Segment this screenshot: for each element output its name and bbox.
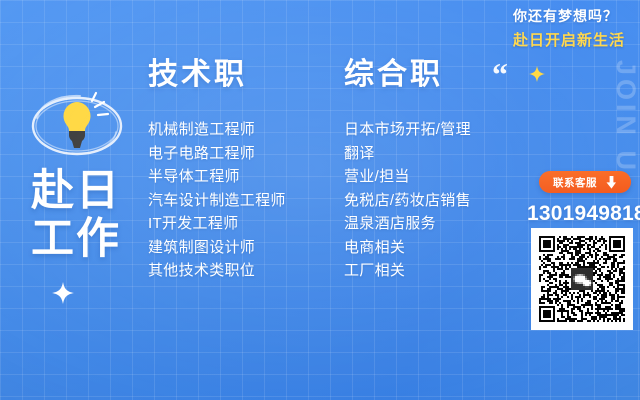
list-item: 机械制造工程师 xyxy=(148,118,286,142)
list-item: 免税店/药妆店销售 xyxy=(344,189,471,213)
qr-code[interactable] xyxy=(531,228,633,330)
list-item: 电子电路工程师 xyxy=(148,142,286,166)
column-technical-list: 机械制造工程师 电子电路工程师 半导体工程师 汽车设计制造工程师 IT开发工程师… xyxy=(148,118,286,283)
slogan-question: 你还有梦想吗？ xyxy=(513,8,618,24)
list-item: 营业/担当 xyxy=(344,165,471,189)
contact-support-button[interactable]: 联系客服 xyxy=(539,171,631,193)
sparkle-star-yellow-icon xyxy=(529,66,545,82)
list-item: IT开发工程师 xyxy=(148,212,286,236)
list-item: 半导体工程师 xyxy=(148,165,286,189)
contact-support-label: 联系客服 xyxy=(553,175,597,190)
column-technical: 技术职 机械制造工程师 电子电路工程师 半导体工程师 汽车设计制造工程师 IT开… xyxy=(148,58,286,283)
column-general: 综合职 日本市场开拓/管理 翻译 营业/担当 免税店/药妆店销售 温泉酒店服务 … xyxy=(344,58,471,283)
column-general-list: 日本市场开拓/管理 翻译 营业/担当 免税店/药妆店销售 温泉酒店服务 电商相关… xyxy=(344,118,471,283)
vertical-join-us-text: JOIN U xyxy=(610,60,640,174)
lightbulb-icon xyxy=(24,82,130,166)
brand-title-line2: 工作 xyxy=(31,215,151,263)
slogan-highlight: 赴日开启新生活 xyxy=(513,32,625,49)
list-item: 温泉酒店服务 xyxy=(344,212,471,236)
poster-canvas: 赴日 工作 “ 你还有梦想吗？ 赴日开启新生活 JOIN U 技术职 机械制造工… xyxy=(0,0,640,400)
brand-title-line1: 赴日 xyxy=(31,167,151,215)
list-item: 其他技术类职位 xyxy=(148,259,286,283)
contact-phone-number[interactable]: 13019498186 xyxy=(527,202,637,226)
list-item: 建筑制图设计师 xyxy=(148,236,286,260)
sparkle-star-icon xyxy=(52,282,74,304)
list-item: 日本市场开拓/管理 xyxy=(344,118,471,142)
brand-title: 赴日 工作 xyxy=(31,167,151,263)
list-item: 翻译 xyxy=(344,142,471,166)
list-item: 工厂相关 xyxy=(344,259,471,283)
column-technical-heading: 技术职 xyxy=(148,58,286,92)
column-general-heading: 综合职 xyxy=(344,58,471,92)
list-item: 电商相关 xyxy=(344,236,471,260)
arrow-down-icon xyxy=(606,176,617,189)
quotation-mark-icon: “ xyxy=(492,58,508,90)
list-item: 汽车设计制造工程师 xyxy=(148,189,286,213)
